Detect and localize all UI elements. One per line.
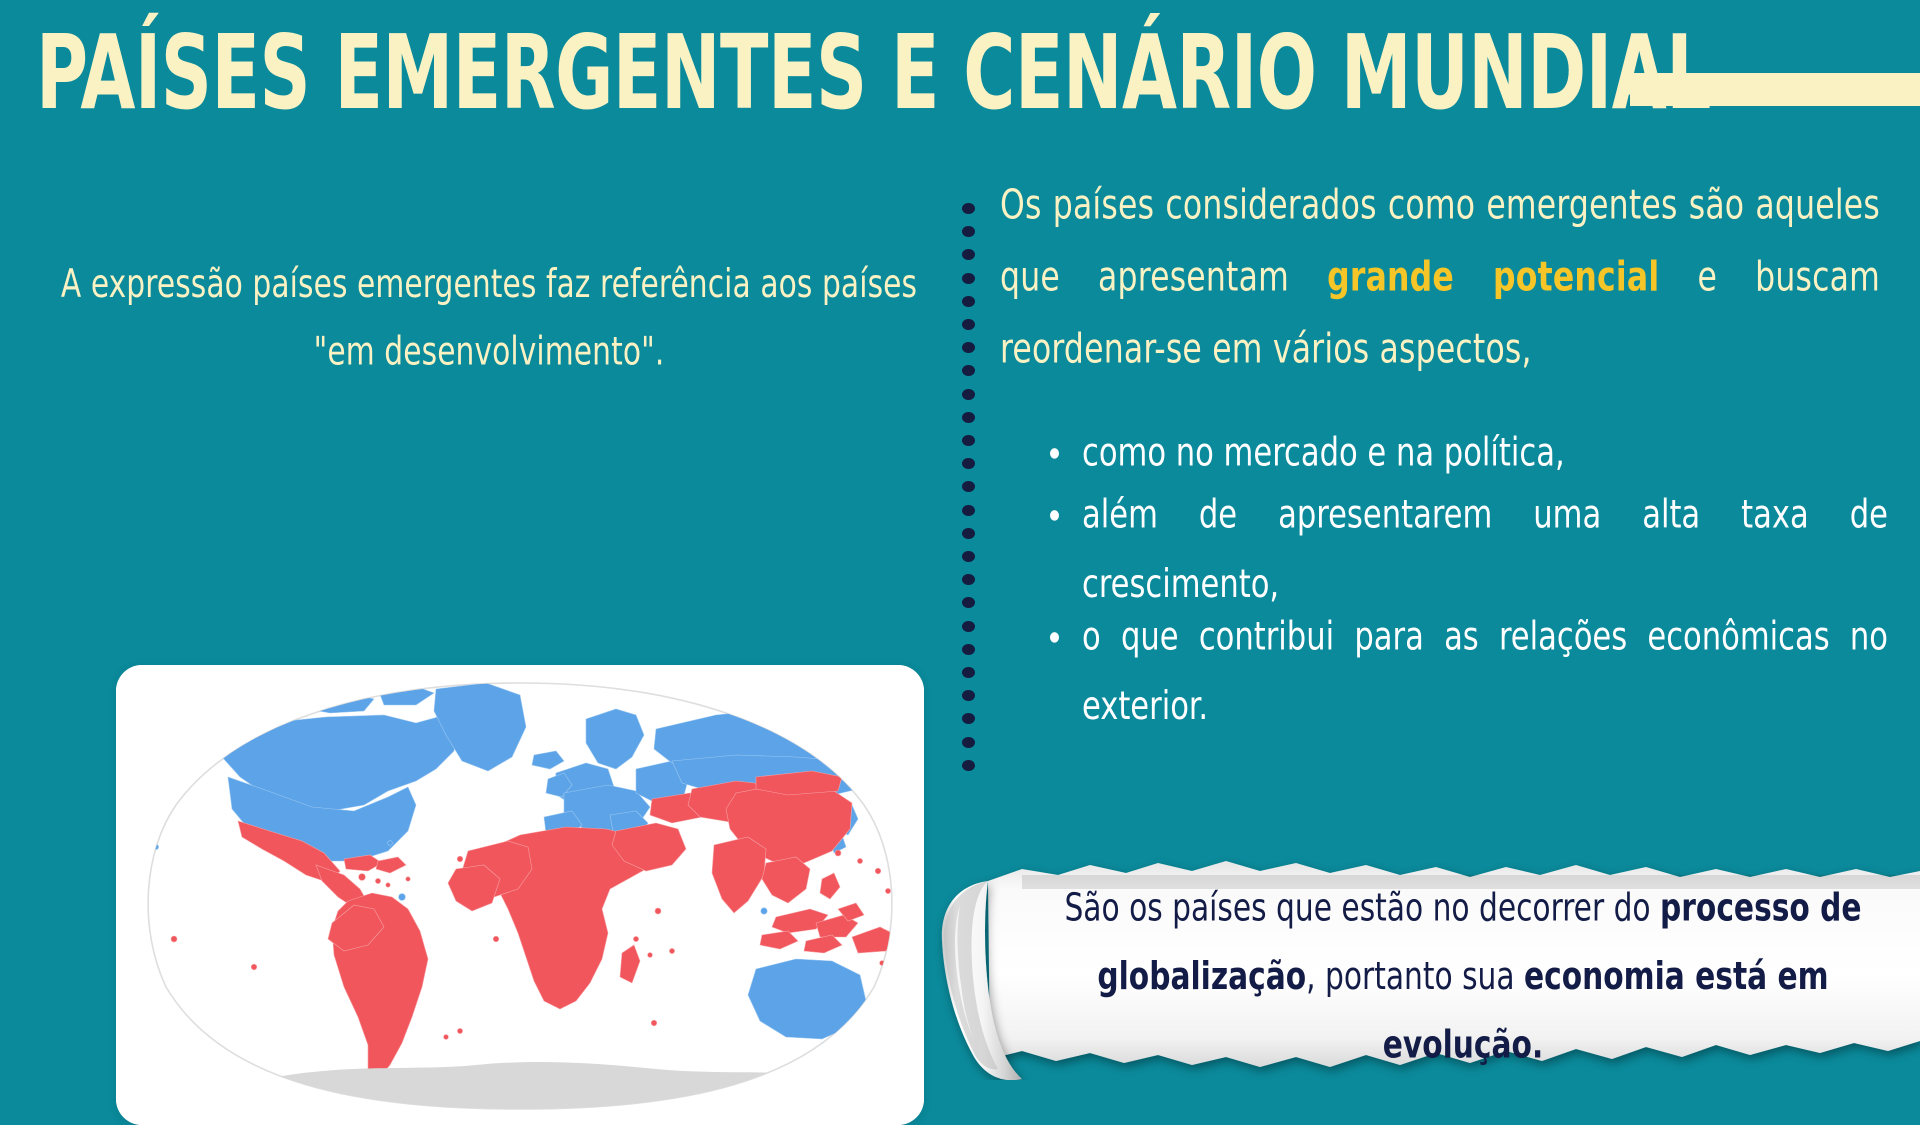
world-map-card	[116, 665, 924, 1125]
bullet-list: como no mercado e na política, além de a…	[1040, 418, 1888, 724]
intro-highlight-grande-potencial: grande potencial	[1327, 255, 1659, 301]
divider-dot	[962, 551, 975, 562]
list-item: como no mercado e na política,	[1040, 418, 1888, 488]
divider-dot	[962, 458, 975, 469]
left-column: A expressão países emergentes faz referê…	[34, 160, 934, 1040]
divider-dot	[962, 365, 975, 376]
title-accent-bar	[1630, 73, 1920, 106]
divider-dot	[962, 389, 975, 400]
divider-dot	[962, 737, 975, 748]
list-item: o que contribui para as relações econômi…	[1040, 602, 1888, 741]
intro-paragraph: Os países considerados como emergentes s…	[1000, 170, 1880, 386]
list-item: além de apresentarem uma alta taxa de cr…	[1040, 480, 1888, 619]
torn-text-b: , portanto sua	[1306, 953, 1524, 998]
divider-dot	[962, 319, 975, 330]
bullet-text: como no mercado e na política,	[1082, 430, 1565, 476]
divider-dot	[962, 760, 975, 771]
torn-paper-panel: São os países que estão no decorrer do p…	[930, 845, 1920, 1080]
divider-dot	[962, 713, 975, 724]
divider-dot	[962, 597, 975, 608]
bullet-text: o que contribui para as relações econômi…	[1082, 614, 1888, 730]
slide-root: PAÍSES EMERGENTES E CENÁRIO MUNDIAL A ex…	[0, 0, 1920, 1080]
divider-dot	[962, 296, 975, 307]
torn-text-a: São os países que estão no decorrer do	[1064, 885, 1660, 930]
right-column: Os países considerados como emergentes s…	[1000, 170, 1900, 356]
divider-dot	[962, 342, 975, 353]
divider-dot	[962, 412, 975, 423]
divider-dot	[962, 481, 975, 492]
divider-dot	[962, 226, 975, 237]
left-paragraph: A expressão países emergentes faz referê…	[54, 250, 924, 385]
divider-dot	[962, 273, 975, 284]
divider-dot	[962, 505, 975, 516]
divider-dot	[962, 203, 975, 214]
divider-dot	[962, 690, 975, 701]
divider-dot	[962, 667, 975, 678]
torn-panel-text: São os países que estão no decorrer do p…	[1032, 873, 1894, 1078]
divider-dot	[962, 621, 975, 632]
dotted-divider	[962, 203, 976, 791]
divider-dot	[962, 435, 975, 446]
header: PAÍSES EMERGENTES E CENÁRIO MUNDIAL	[0, 0, 1920, 135]
divider-dot	[962, 249, 975, 260]
bullet-text: além de apresentarem uma alta taxa de cr…	[1082, 492, 1888, 608]
divider-dot	[962, 574, 975, 585]
divider-dot	[962, 528, 975, 539]
page-title: PAÍSES EMERGENTES E CENÁRIO MUNDIAL	[36, 14, 1711, 131]
divider-dot	[962, 644, 975, 655]
world-map-svg	[116, 665, 924, 1125]
